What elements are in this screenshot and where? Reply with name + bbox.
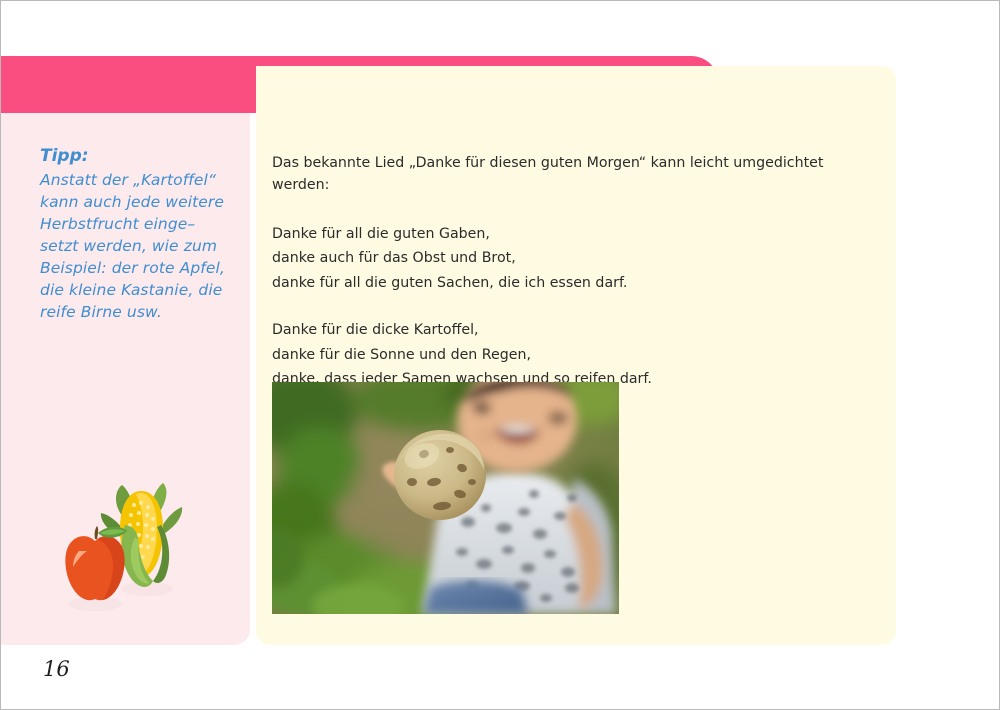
- tip-heading: Tipp:: [40, 146, 236, 167]
- page-canvas: Danke-Lied Tipp: Anstatt der „Kartoffel“…: [0, 0, 1000, 710]
- page-number: 16: [43, 659, 70, 680]
- song-text-block: Das bekannte Lied „Danke für diesen gute…: [272, 152, 872, 415]
- verse-2: Danke für die dicke Kartoffel, danke für…: [272, 318, 872, 391]
- intro-line: Das bekannte Lied „Danke für diesen gute…: [272, 152, 872, 196]
- produce-illustration-group: [53, 481, 198, 616]
- photo-child-with-potato: [272, 382, 619, 614]
- tip-text-block: Tipp: Anstatt der „Kartoffel“ kann auch …: [40, 146, 236, 323]
- produce-svg: [53, 481, 198, 616]
- apple-icon: [65, 526, 127, 611]
- content-panel: Das bekannte Lied „Danke für diesen gute…: [256, 66, 896, 645]
- tip-panel: Tipp: Anstatt der „Kartoffel“ kann auch …: [1, 113, 250, 645]
- tip-body: Anstatt der „Kartoffel“ kann auch jede w…: [40, 169, 236, 323]
- verse-1: Danke für all die guten Gaben, danke auc…: [272, 222, 872, 295]
- photo-svg: [272, 382, 619, 614]
